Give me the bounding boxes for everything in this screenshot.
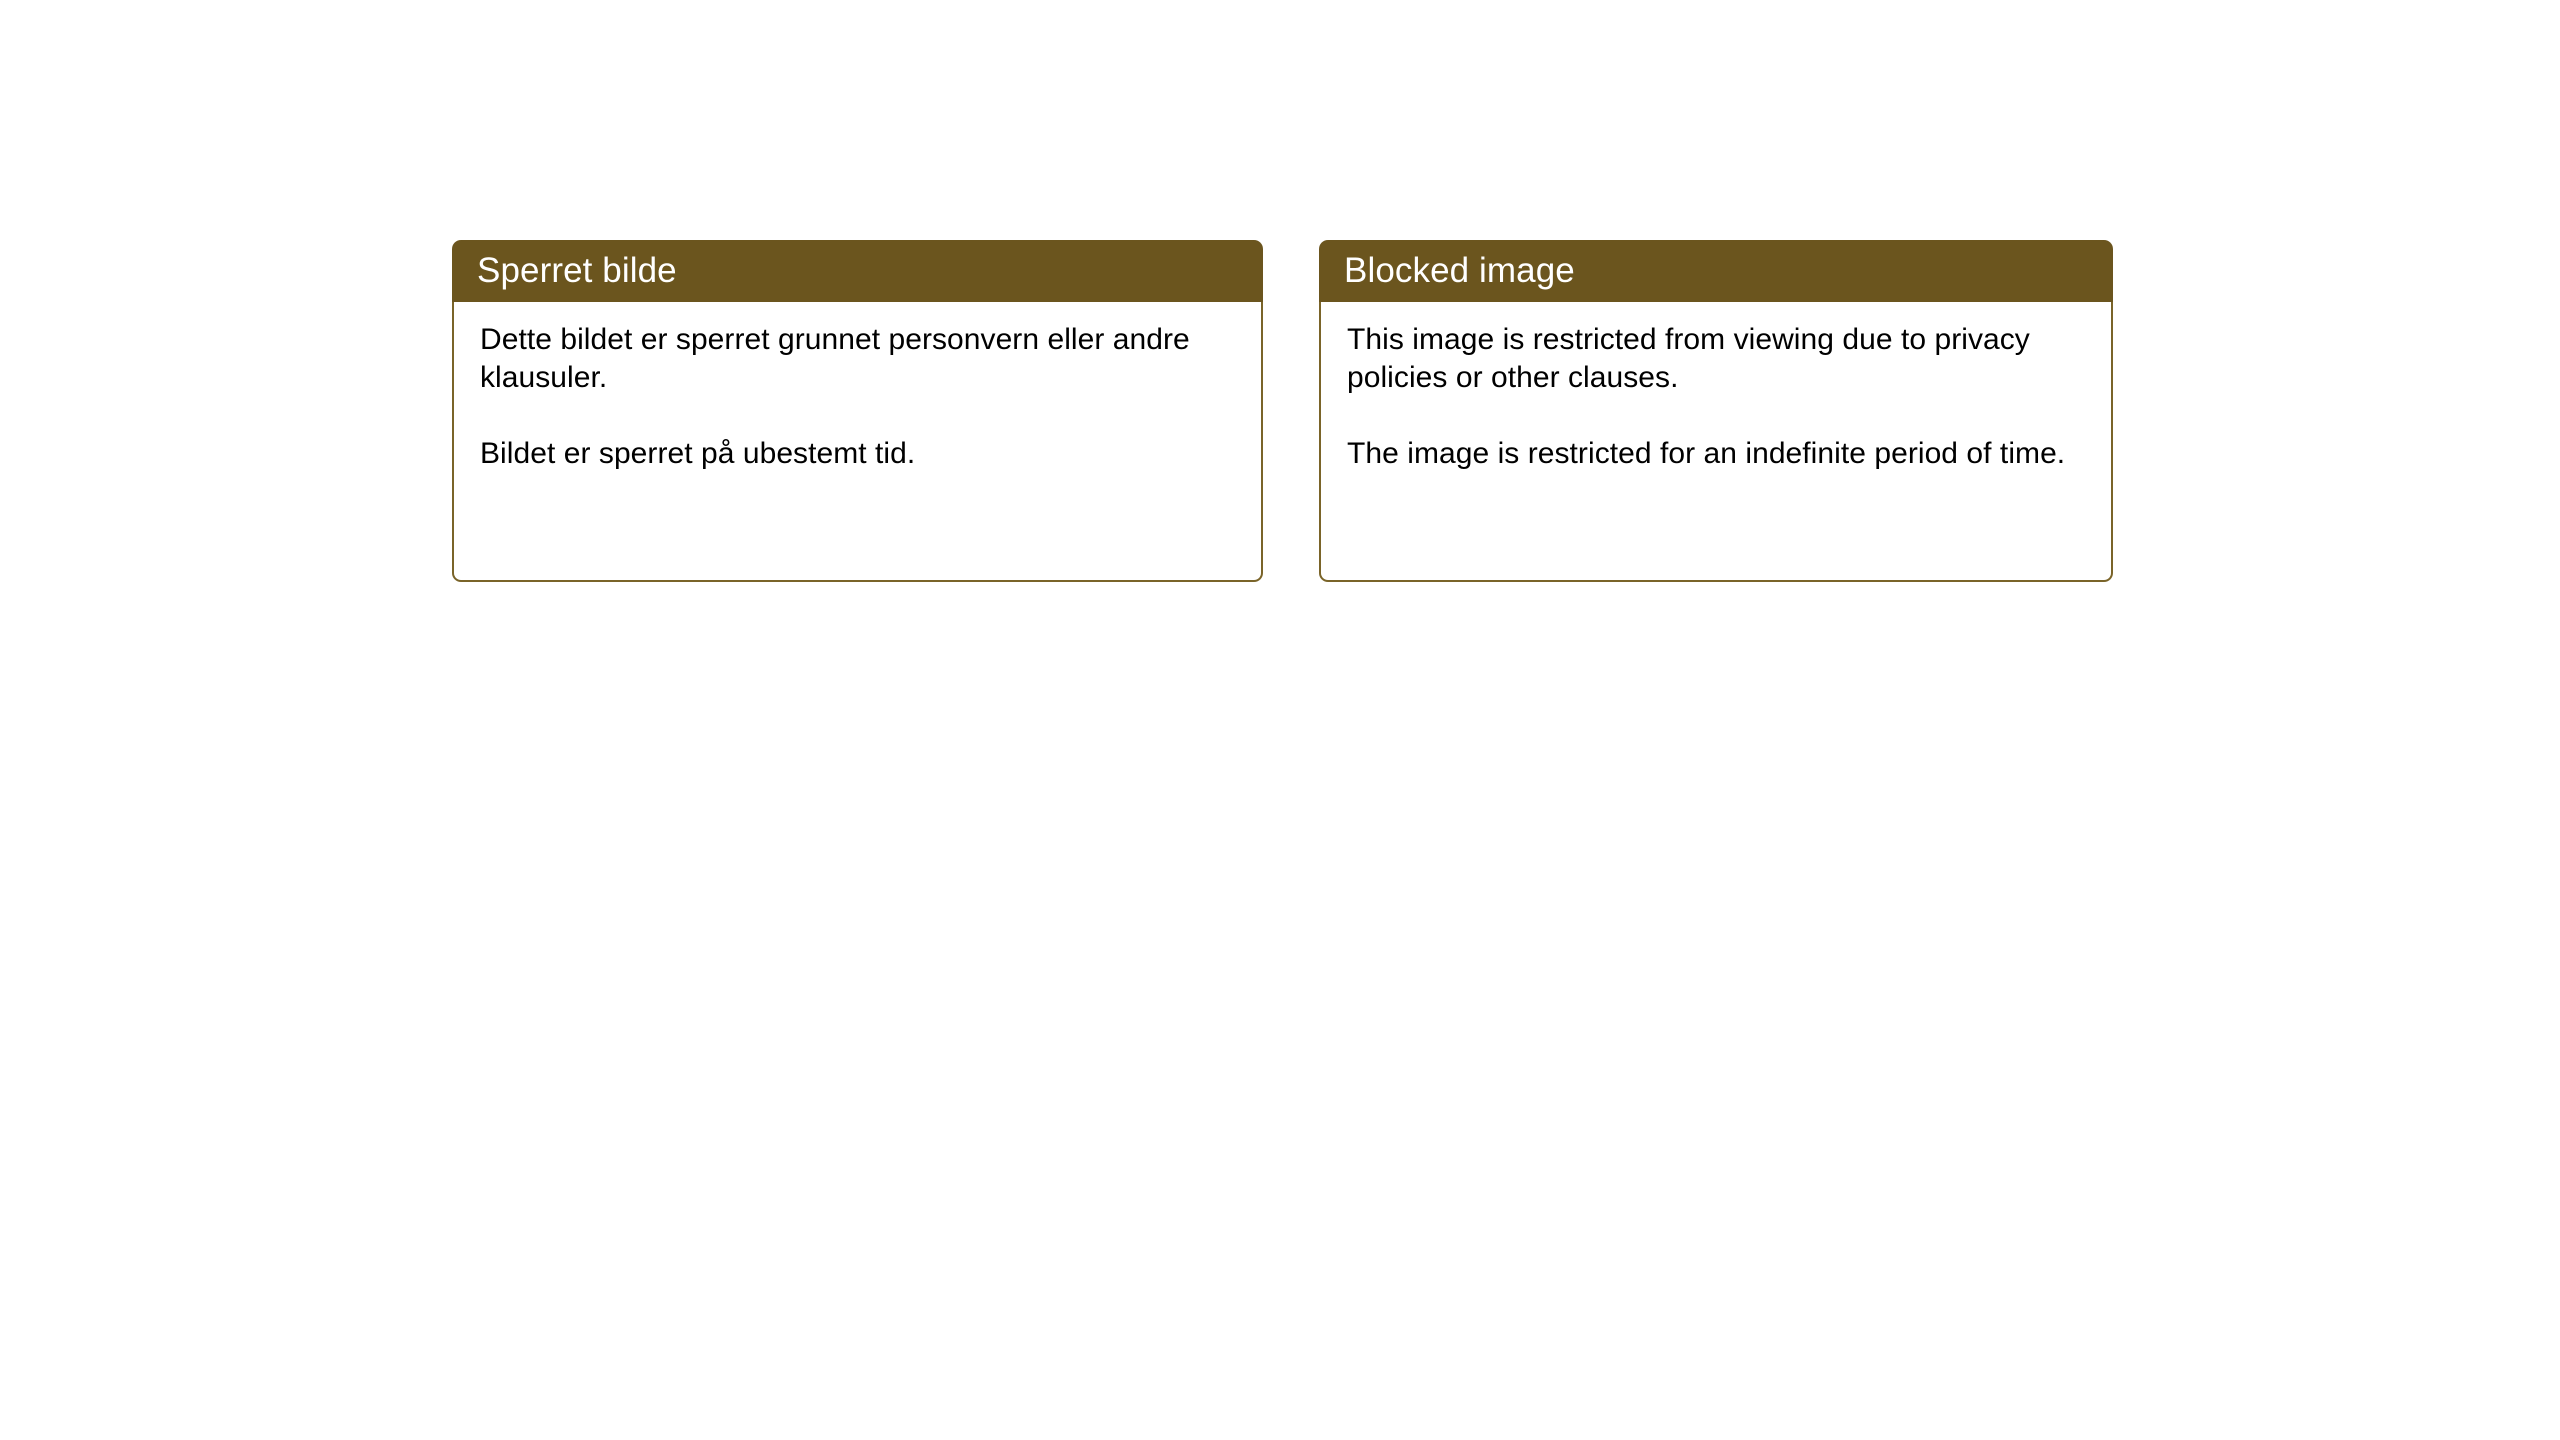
notice-card-body: Dette bildet er sperret grunnet personve… [452, 302, 1263, 582]
notice-card-body: This image is restricted from viewing du… [1319, 302, 2113, 582]
notice-card-paragraph-reason: This image is restricted from viewing du… [1347, 321, 2093, 397]
notice-card-header: Sperret bilde [452, 240, 1263, 302]
notice-card-paragraph-duration: Bildet er sperret på ubestemt tid. [480, 435, 1243, 473]
notice-card-header: Blocked image [1319, 240, 2113, 302]
blocked-image-notice-card-norwegian: Sperret bilde Dette bildet er sperret gr… [452, 240, 1263, 582]
page-canvas: Sperret bilde Dette bildet er sperret gr… [0, 0, 2560, 1440]
notice-card-title: Sperret bilde [477, 251, 677, 291]
blocked-image-notice-card-english: Blocked image This image is restricted f… [1319, 240, 2113, 582]
notice-card-title: Blocked image [1344, 251, 1575, 291]
notice-card-paragraph-reason: Dette bildet er sperret grunnet personve… [480, 321, 1243, 397]
notice-card-paragraph-duration: The image is restricted for an indefinit… [1347, 435, 2093, 473]
